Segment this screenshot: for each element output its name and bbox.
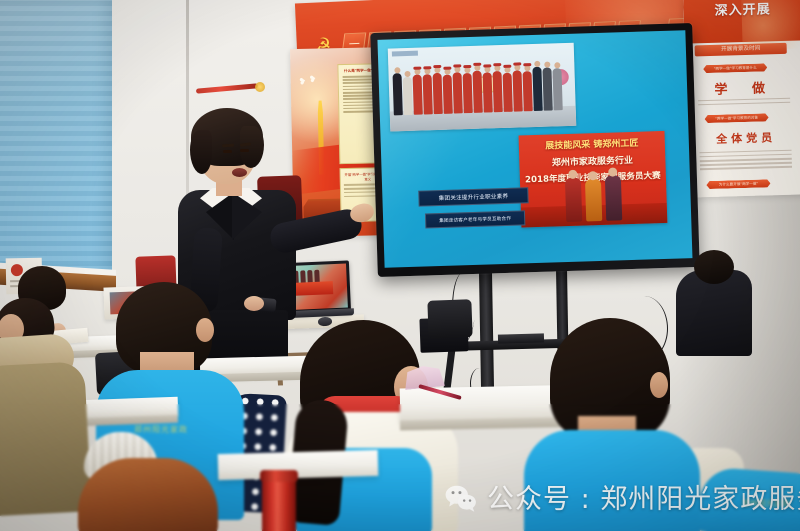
person-figure	[443, 75, 453, 114]
presenter-eye-left	[223, 150, 232, 153]
poster-tag-1: "两学一做"学习教育是什么	[703, 63, 767, 73]
person-figure	[585, 179, 602, 221]
attendee-5-uniform-vest	[524, 430, 700, 531]
person-figure	[503, 73, 513, 112]
person-figure	[433, 73, 443, 114]
uniform-logo-text: 郑州阳光家政	[742, 498, 790, 509]
poster-pill-label: 开展背景及时间	[695, 43, 787, 57]
desk-row-5	[218, 450, 379, 480]
person-figure	[423, 74, 433, 114]
poster-big-text-2: 全体党员	[687, 128, 800, 147]
ceremony-stage-photo: 展技能风采 铸郑州工匠 郑州市家政服务行业 2018年度职业技能家政服务员大赛	[519, 131, 668, 228]
person-figure	[512, 70, 522, 111]
poster-paragraph-1	[698, 95, 790, 109]
red-thermos-flask	[262, 474, 296, 531]
uniform-logo-text: 郑州阳光家政	[134, 424, 208, 438]
ceremony-banner-line-1: 展技能风采 铸郑州工匠	[525, 135, 659, 152]
photo-scene: ☭ 一 个 支 部 一 个 堡 垒 一 个 党 员 一 面 旗 帜 党建宣传栏 …	[0, 0, 800, 531]
attendee-3-hair	[78, 458, 218, 531]
poster-dot-icon	[11, 264, 23, 276]
thermos-cap	[260, 470, 298, 482]
presenter-hand-left	[244, 296, 264, 311]
text-line	[700, 162, 792, 166]
person-figure	[565, 178, 582, 222]
attendee-2-ear	[196, 318, 214, 342]
study-education-poster: 深入开展 开展背景及时间 "两学一做"学习教育是什么 学 做 "两学一做"学习教…	[683, 0, 800, 198]
person-figure	[532, 67, 542, 111]
ceremony-people	[565, 175, 622, 222]
pointer-tip-icon	[255, 82, 265, 92]
poster-header-band: 深入开展	[683, 0, 800, 44]
text-line	[700, 166, 792, 170]
person-figure	[493, 71, 503, 112]
text-line	[700, 149, 792, 153]
presenter-hair-side-right	[240, 126, 264, 168]
text-line	[700, 158, 792, 162]
person-figure	[472, 71, 482, 113]
person-figure	[453, 72, 463, 113]
person-figure	[523, 71, 533, 111]
poster-tag-3: 为什么要开展"两学一做"	[706, 179, 770, 189]
poster-tag-2: "两学一做"学习教育的对象	[705, 113, 769, 123]
text-line	[698, 97, 790, 101]
person-figure	[542, 67, 552, 110]
person-figure	[483, 72, 493, 112]
ceremony-banner-line-2: 郑州市家政服务行业	[523, 152, 661, 169]
person-figure	[552, 68, 562, 110]
photo-people-row	[392, 66, 562, 115]
group-award-photo	[388, 43, 577, 132]
text-line	[700, 154, 792, 158]
presenter-hair-side-left	[190, 130, 212, 174]
person-figure	[463, 73, 473, 113]
person-figure	[413, 75, 423, 115]
red-thermos-flask-secondary	[756, 430, 786, 488]
photo-logo	[392, 51, 418, 57]
poster-paragraph-2	[699, 147, 792, 173]
person-figure	[605, 175, 622, 220]
poster-title: 深入开展	[683, 0, 800, 20]
wall-mounted-television[interactable]: 展技能风采 铸郑州工匠 郑州市家政服务行业 2018年度职业技能家政服务员大赛 …	[370, 23, 700, 277]
slide-bullet-2: 集团走访客户老年与学员互助合作	[425, 210, 525, 228]
tv-screen[interactable]: 展技能风采 铸郑州工匠 郑州市家政服务行业 2018年度职业技能家政服务员大赛 …	[377, 30, 692, 268]
attendee-5-ear	[650, 372, 668, 398]
presenter-mouth	[232, 168, 247, 177]
person-figure	[403, 77, 413, 115]
attendee-1-winter-coat	[0, 361, 92, 517]
chair[interactable]	[427, 299, 472, 339]
attendee-7-hair	[694, 250, 734, 284]
person-figure	[393, 73, 403, 115]
text-line	[698, 102, 790, 106]
window-roller-blind	[0, 0, 112, 278]
av-device-box	[498, 333, 544, 343]
presenter-eye-right	[240, 149, 249, 152]
